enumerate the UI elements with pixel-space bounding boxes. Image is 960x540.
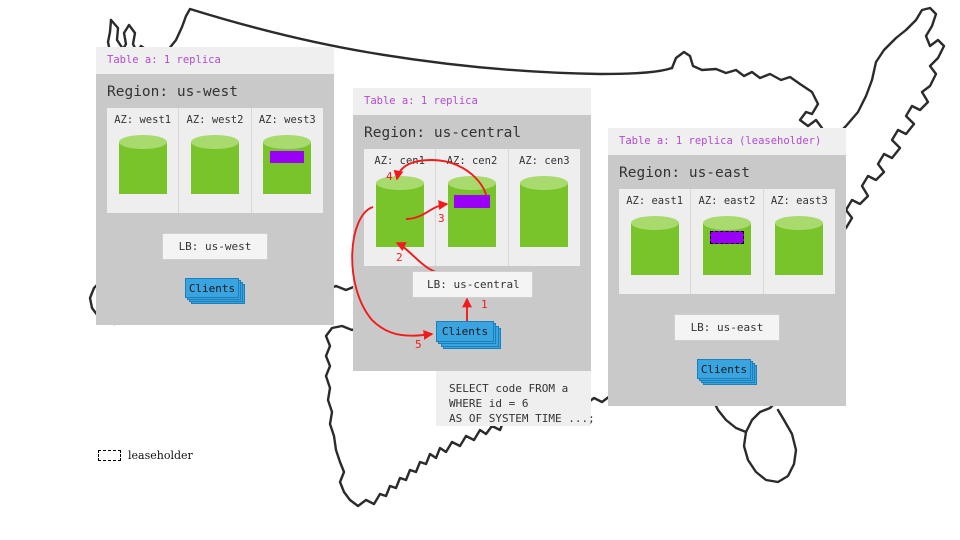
az-cen3[interactable]: AZ: cen3 <box>509 149 580 266</box>
cylinder-east1[interactable] <box>631 216 679 282</box>
load-balancer-us-east[interactable]: LB: us-east <box>674 314 780 341</box>
clients-us-central[interactable]: Clients <box>436 321 502 349</box>
az-east2[interactable]: AZ: east2 <box>691 189 763 294</box>
clients-us-west[interactable]: Clients <box>185 278 245 304</box>
az-label: AZ: west3 <box>259 115 316 126</box>
legend-label: leaseholder <box>128 450 193 461</box>
az-label: AZ: east2 <box>699 196 756 207</box>
sql-query-box: SELECT code FROM a WHERE id = 6 AS OF SY… <box>436 371 591 426</box>
clients-label: Clients <box>436 321 494 342</box>
az-label: AZ: cen3 <box>519 156 570 167</box>
replica-west3[interactable] <box>270 151 304 163</box>
cylinder-west1[interactable] <box>119 135 167 201</box>
az-label: AZ: east3 <box>771 196 828 207</box>
az-label: AZ: cen1 <box>374 156 425 167</box>
az-label: AZ: west2 <box>187 115 244 126</box>
legend: leaseholder <box>98 450 193 461</box>
az-label: AZ: east1 <box>626 196 683 207</box>
load-balancer-us-west[interactable]: LB: us-west <box>162 233 268 260</box>
az-east1[interactable]: AZ: east1 <box>619 189 691 294</box>
az-west2[interactable]: AZ: west2 <box>179 108 251 213</box>
cylinder-west2[interactable] <box>191 135 239 201</box>
region-name-us-west: Region: us-west <box>96 74 334 109</box>
clients-label: Clients <box>697 359 751 379</box>
replica-cen2[interactable] <box>454 195 490 208</box>
az-row-us-west: AZ: west1 AZ: west2 AZ: west3 <box>107 108 323 213</box>
dashed-rect-swatch-icon <box>98 450 121 461</box>
diagram-canvas: Table a: 1 replica Region: us-west AZ: w… <box>0 0 960 540</box>
replica-east2-leaseholder[interactable] <box>710 231 744 244</box>
az-east3[interactable]: AZ: east3 <box>764 189 835 294</box>
region-title-us-central: Table a: 1 replica <box>353 88 591 115</box>
az-label: AZ: west1 <box>114 115 171 126</box>
clients-label: Clients <box>185 278 239 298</box>
az-cen2[interactable]: AZ: cen2 <box>436 149 508 266</box>
region-panel-us-central: Table a: 1 replica Region: us-central AZ… <box>353 88 591 371</box>
region-panel-us-west: Table a: 1 replica Region: us-west AZ: w… <box>96 47 334 325</box>
cylinder-cen3[interactable] <box>520 176 568 254</box>
cylinder-east2[interactable] <box>703 216 751 282</box>
az-west3[interactable]: AZ: west3 <box>252 108 323 213</box>
region-name-us-east: Region: us-east <box>608 155 846 190</box>
az-row-us-east: AZ: east1 AZ: east2 AZ: east3 <box>619 189 835 294</box>
cylinder-west3[interactable] <box>263 135 311 201</box>
region-name-us-central: Region: us-central <box>353 115 591 150</box>
load-balancer-us-central[interactable]: LB: us-central <box>412 271 533 298</box>
az-label: AZ: cen2 <box>447 156 498 167</box>
region-panel-us-east: Table a: 1 replica (leaseholder) Region:… <box>608 128 846 406</box>
region-title-us-east: Table a: 1 replica (leaseholder) <box>608 128 846 155</box>
az-west1[interactable]: AZ: west1 <box>107 108 179 213</box>
cylinder-east3[interactable] <box>775 216 823 282</box>
az-row-us-central: AZ: cen1 AZ: cen2 AZ: cen3 <box>364 149 580 266</box>
region-title-us-west: Table a: 1 replica <box>96 47 334 74</box>
clients-us-east[interactable]: Clients <box>697 359 757 385</box>
cylinder-cen1[interactable] <box>376 176 424 254</box>
cylinder-cen2[interactable] <box>448 176 496 254</box>
az-cen1[interactable]: AZ: cen1 <box>364 149 436 266</box>
